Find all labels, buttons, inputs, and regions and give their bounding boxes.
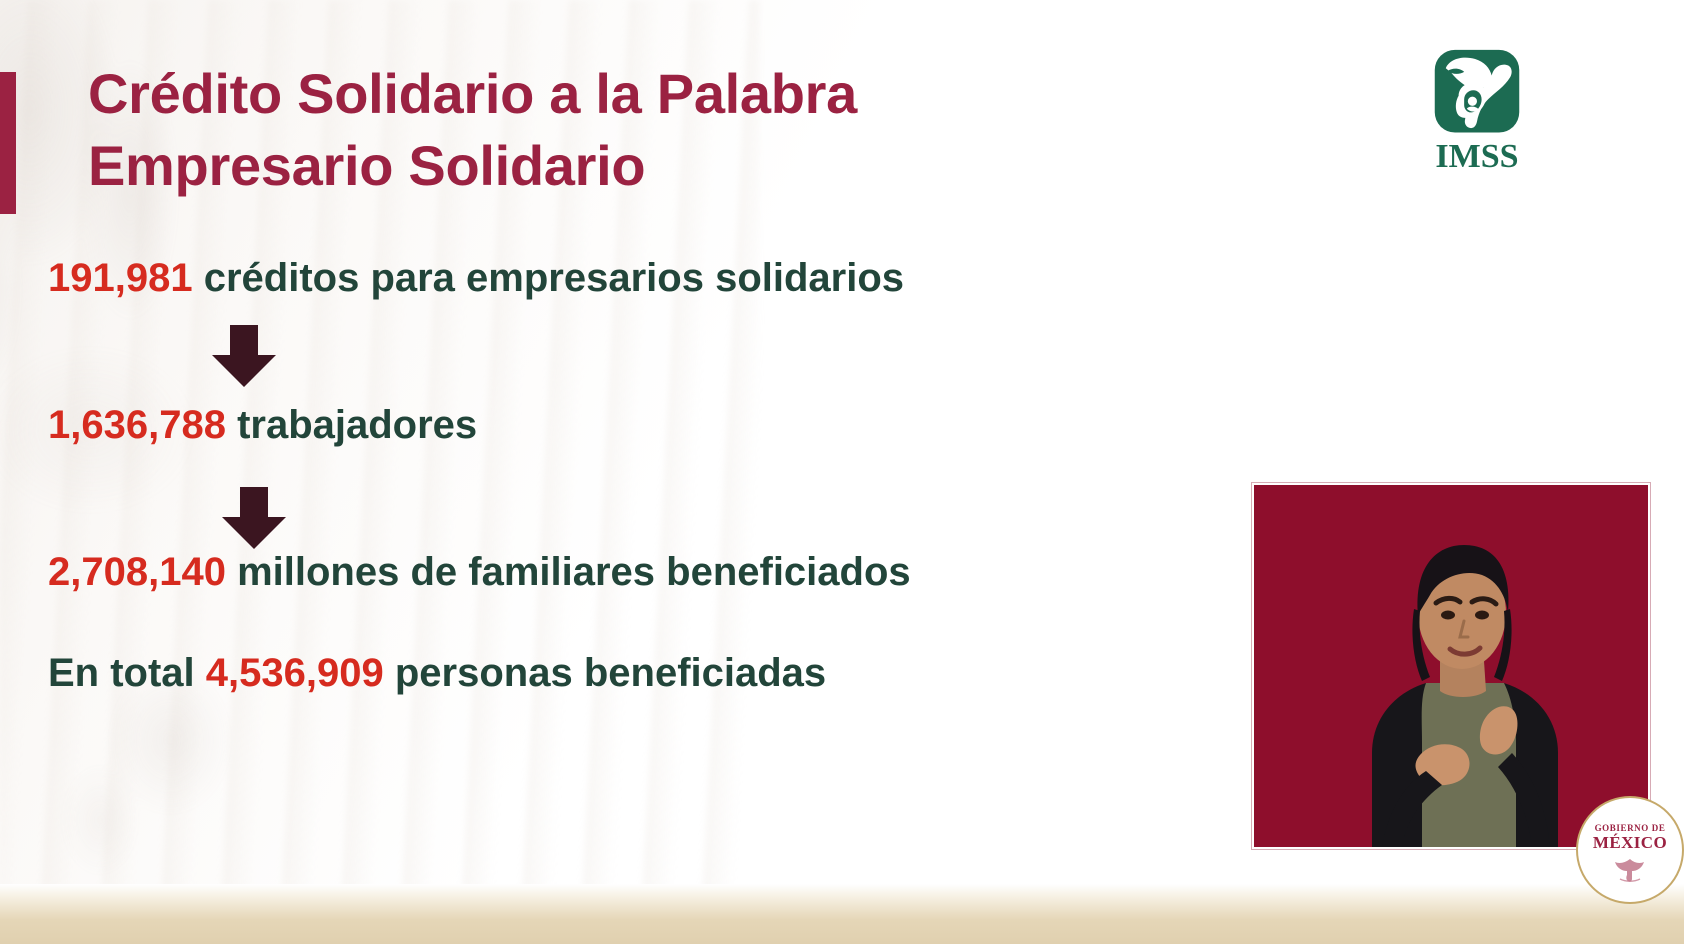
page-title: Crédito Solidario a la Palabra Empresari… xyxy=(88,58,1148,201)
gobierno-de-mexico-seal: GOBIERNO DE MÉXICO xyxy=(1576,796,1684,904)
interpreter-figure xyxy=(1254,485,1648,847)
stat-line-total-people: En total 4,536,909 personas beneficiadas xyxy=(48,653,826,693)
title-accent-bar xyxy=(0,72,16,214)
title-line-1: Crédito Solidario a la Palabra xyxy=(88,58,1148,130)
stat-label-credits: créditos para empresarios solidarios xyxy=(204,256,904,300)
imss-logo: IMSS xyxy=(1418,48,1536,176)
presentation-slide: Crédito Solidario a la Palabra Empresari… xyxy=(0,0,1684,944)
stat-number-workers: 1,636,788 xyxy=(48,403,226,447)
eagle-seal-icon xyxy=(1610,855,1650,885)
imss-emblem-icon xyxy=(1431,48,1523,138)
seal-top-line: GOBIERNO DE xyxy=(1595,824,1666,833)
title-line-2: Empresario Solidario xyxy=(88,130,1148,202)
footer-strip xyxy=(0,884,1684,944)
stat-number-family-members: 2,708,140 xyxy=(48,550,226,594)
stat-line-family-members: 2,708,140 millones de familiares benefic… xyxy=(48,552,911,592)
stat-prefix-total: En total xyxy=(48,651,195,695)
stat-label-family-members: millones de familiares beneficiados xyxy=(237,550,911,594)
down-arrow-icon-1 xyxy=(208,325,280,387)
stat-label-total-people: personas beneficiadas xyxy=(395,651,826,695)
seal-main-line: MÉXICO xyxy=(1593,833,1667,853)
imss-wordmark: IMSS xyxy=(1418,140,1536,174)
sign-language-interpreter-video[interactable] xyxy=(1252,483,1650,849)
stat-line-workers: 1,636,788 trabajadores xyxy=(48,405,477,445)
stat-number-credits: 191,981 xyxy=(48,256,193,300)
stat-line-credits: 191,981 créditos para empresarios solida… xyxy=(48,258,904,298)
stat-number-total-people: 4,536,909 xyxy=(206,651,384,695)
down-arrow-icon-2 xyxy=(218,487,290,549)
stat-label-workers: trabajadores xyxy=(237,403,477,447)
